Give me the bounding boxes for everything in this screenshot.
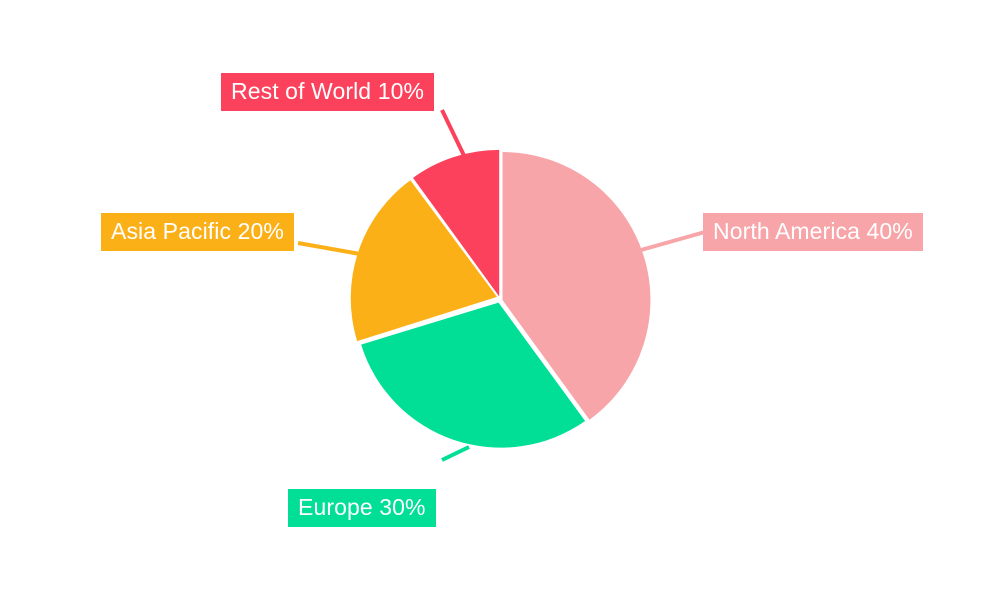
leader-line-europe [442,447,469,460]
pie-label-asia-pacific-text: Asia Pacific 20% [111,220,284,243]
pie-chart-figure: North America 40% Europe 30% Asia Pacifi… [0,0,1000,600]
pie-label-europe-text: Europe 30% [298,496,426,519]
pie-label-rest-of-world-text: Rest of World 10% [231,80,424,103]
pie-slices [351,150,651,448]
pie-label-north-america-text: North America 40% [713,220,913,243]
leader-line-north-america [641,232,705,250]
pie-label-north-america[interactable]: North America 40% [703,213,923,251]
pie-label-asia-pacific[interactable]: Asia Pacific 20% [101,213,294,251]
pie-label-europe[interactable]: Europe 30% [288,489,436,527]
pie-chart-canvas [0,0,1000,600]
leader-line-asia-pacific [298,243,360,254]
pie-label-rest-of-world[interactable]: Rest of World 10% [221,73,434,111]
